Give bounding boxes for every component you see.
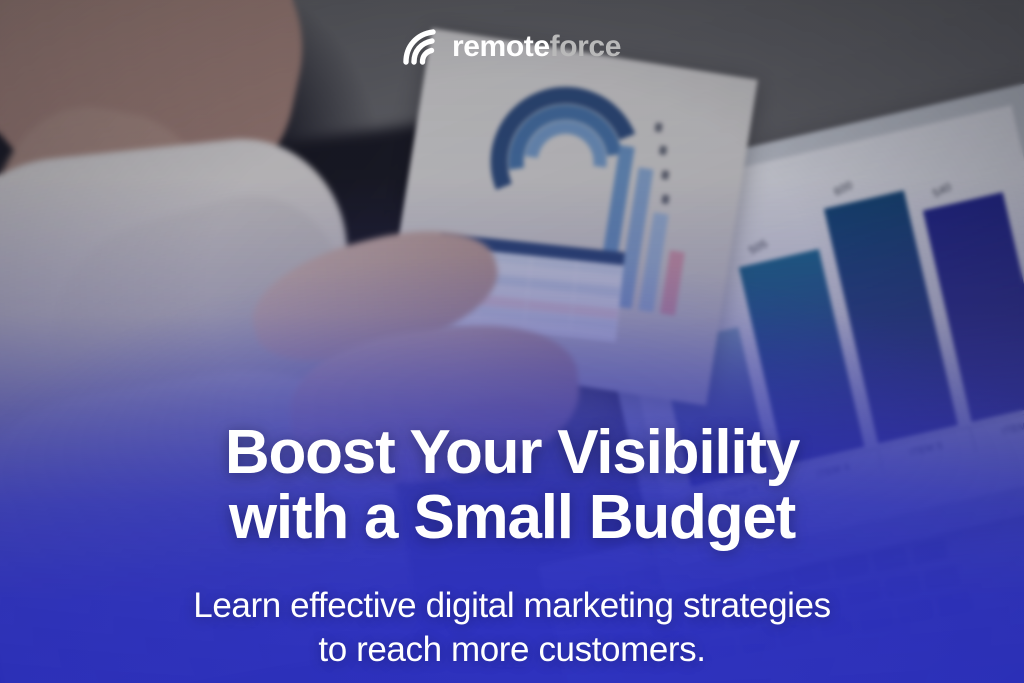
promo-banner: 360505600540 ITEM 3ITEM 4ITEM 5ITEM 6 <box>0 0 1024 683</box>
remoteforce-signal-icon <box>403 29 441 65</box>
banner-content: remoteforce Boost Your Visibility with a… <box>0 0 1024 683</box>
subhead-line-1: Learn effective digital marketing strate… <box>0 584 1024 628</box>
subhead-line-2: to reach more customers. <box>0 628 1024 672</box>
brand-wordmark: remoteforce <box>452 32 621 62</box>
page-subtitle: Learn effective digital marketing strate… <box>0 584 1024 672</box>
brand-word-remote: remote <box>452 30 550 63</box>
page-title: Boost Your Visibility with a Small Budge… <box>0 420 1024 550</box>
headline-line-2: with a Small Budget <box>0 485 1024 550</box>
brand-logo[interactable]: remoteforce <box>0 29 1024 65</box>
headline-line-1: Boost Your Visibility <box>0 420 1024 485</box>
brand-word-force: force <box>550 30 621 63</box>
